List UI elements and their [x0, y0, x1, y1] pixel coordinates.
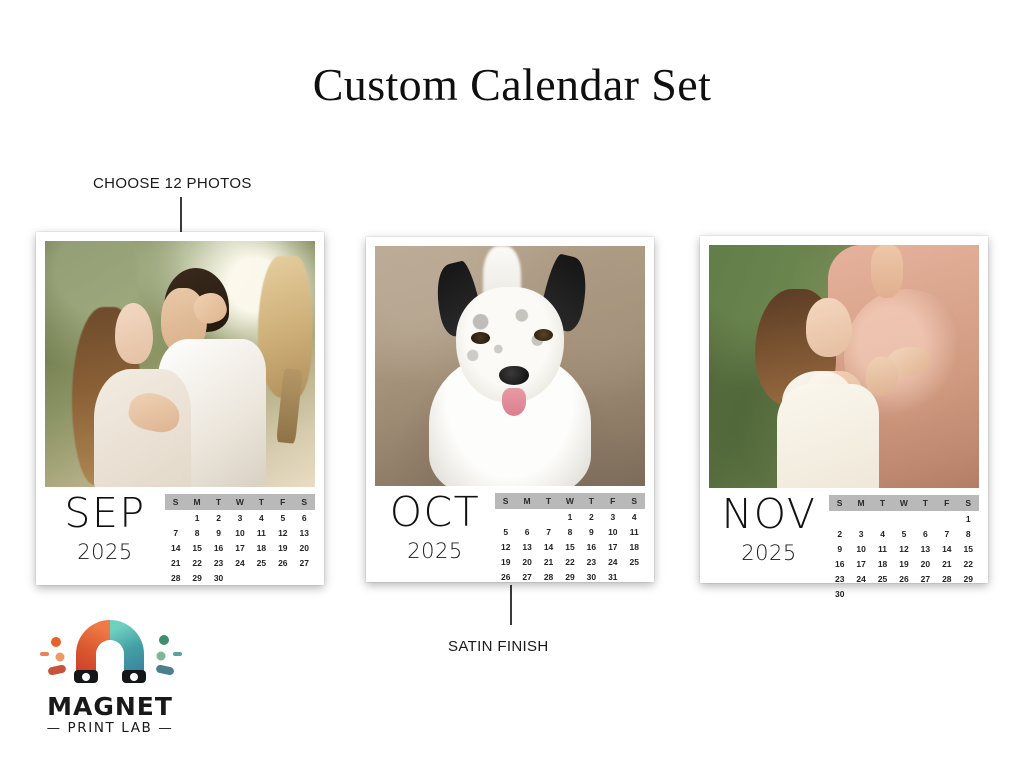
calendar-day-cell[interactable]: 21	[538, 554, 559, 569]
calendar-day-cell[interactable]: 27	[915, 571, 936, 586]
calendar-day-cell[interactable]: 26	[495, 569, 516, 584]
calendar-week-row: 123456	[165, 510, 315, 525]
calendar-day-cell[interactable]: 19	[495, 554, 516, 569]
calendar-day-cell[interactable]: 21	[165, 555, 186, 570]
calendar-photo-nov[interactable]	[709, 245, 979, 488]
month-grid-block-sep: S M T W T F S 12345678910111213141516171…	[165, 487, 315, 585]
calendar-empty-cell	[538, 509, 559, 524]
calendar-day-cell[interactable]: 8	[559, 524, 580, 539]
calendar-empty-cell	[850, 511, 871, 526]
calendar-day-cell[interactable]: 13	[516, 539, 537, 554]
weekday-header: M	[516, 493, 537, 509]
calendar-day-cell[interactable]: 19	[893, 556, 914, 571]
page-title: Custom Calendar Set	[0, 58, 1024, 111]
calendar-grid-oct: S M T W T F S 12345678910111213141516171…	[495, 493, 645, 584]
calendar-day-cell[interactable]: 18	[624, 539, 645, 554]
calendar-day-cell[interactable]: 8	[186, 525, 207, 540]
calendar-empty-cell	[829, 511, 850, 526]
calendar-day-cell[interactable]: 25	[872, 571, 893, 586]
calendar-day-cell[interactable]: 26	[272, 555, 293, 570]
calendar-empty-cell	[251, 570, 272, 585]
calendar-day-cell[interactable]: 12	[495, 539, 516, 554]
calendar-photo-oct[interactable]	[375, 246, 645, 486]
calendar-day-cell[interactable]: 24	[229, 555, 250, 570]
weekday-header-row: S M T W T F S	[829, 495, 979, 511]
month-grid-block-oct: S M T W T F S 12345678910111213141516171…	[495, 486, 645, 584]
calendar-day-cell[interactable]: 26	[893, 571, 914, 586]
calendar-day-cell[interactable]: 22	[559, 554, 580, 569]
weekday-header: S	[624, 493, 645, 509]
calendar-week-row: 9101112131415	[829, 541, 979, 556]
calendar-grid-nov: S M T W T F S 12345678910111213141516171…	[829, 495, 979, 601]
photo-mother-arm	[871, 245, 903, 298]
calendar-week-row: 1234	[495, 509, 645, 524]
calendar-day-cell[interactable]: 29	[186, 570, 207, 585]
calendar-day-cell[interactable]: 12	[893, 541, 914, 556]
calendar-bottom-sep: SEP 2025 S M T W T F S 12345678910111213…	[45, 487, 315, 575]
calendar-day-cell[interactable]: 14	[165, 540, 186, 555]
calendar-week-row: 567891011	[495, 524, 645, 539]
calendar-day-cell[interactable]: 30	[581, 569, 602, 584]
calendar-day-cell[interactable]: 15	[559, 539, 580, 554]
calendar-day-cell[interactable]: 18	[872, 556, 893, 571]
calendar-week-row: 78910111213	[165, 525, 315, 540]
calendar-day-cell[interactable]: 17	[850, 556, 871, 571]
month-grid-block-nov: S M T W T F S 12345678910111213141516171…	[829, 488, 979, 601]
calendar-day-cell[interactable]: 16	[829, 556, 850, 571]
calendar-day-cell[interactable]: 19	[272, 540, 293, 555]
calendar-empty-cell	[624, 569, 645, 584]
calendar-day-cell[interactable]: 9	[208, 525, 229, 540]
calendar-day-cell[interactable]: 29	[958, 571, 979, 586]
weekday-header: F	[602, 493, 623, 509]
calendar-day-cell[interactable]: 7	[936, 526, 957, 541]
calendar-empty-cell	[893, 511, 914, 526]
month-name-nov: NOV	[709, 494, 829, 535]
calendar-day-cell[interactable]: 25	[251, 555, 272, 570]
calendar-empty-cell	[272, 570, 293, 585]
calendar-day-cell[interactable]: 23	[208, 555, 229, 570]
calendar-day-cell[interactable]: 27	[516, 569, 537, 584]
calendar-day-cell[interactable]: 24	[602, 554, 623, 569]
calendar-day-cell[interactable]: 22	[958, 556, 979, 571]
calendar-card-sep[interactable]: SEP 2025 S M T W T F S 12345678910111213…	[36, 232, 324, 585]
weekday-header: F	[272, 494, 293, 510]
calendar-day-cell[interactable]: 1	[958, 511, 979, 526]
weekday-header: W	[229, 494, 250, 510]
logo-wordmark: MAGNET	[30, 692, 190, 721]
calendar-day-cell[interactable]: 14	[936, 541, 957, 556]
calendar-day-cell[interactable]: 11	[251, 525, 272, 540]
calendar-day-cell[interactable]: 23	[581, 554, 602, 569]
calendar-day-cell[interactable]: 9	[829, 541, 850, 556]
calendar-day-cell[interactable]: 25	[624, 554, 645, 569]
calendar-card-nov[interactable]: NOV 2025 S M T W T F S 12345678910111213…	[700, 236, 988, 583]
calendar-day-cell[interactable]: 17	[602, 539, 623, 554]
calendar-empty-cell	[495, 509, 516, 524]
calendar-day-cell[interactable]: 29	[559, 569, 580, 584]
brand-logo[interactable]: MAGNET — PRINT LAB —	[30, 612, 190, 732]
calendar-empty-cell	[872, 511, 893, 526]
calendar-day-cell[interactable]: 20	[915, 556, 936, 571]
calendar-week-row: 12131415161718	[495, 539, 645, 554]
calendar-day-cell[interactable]: 20	[294, 540, 315, 555]
weekday-header: W	[559, 493, 580, 509]
calendar-week-row: 16171819202122	[829, 556, 979, 571]
calendar-day-cell[interactable]: 4	[624, 509, 645, 524]
calendar-empty-cell	[294, 570, 315, 585]
calendar-week-row: 21222324252627	[165, 555, 315, 570]
weekday-header: T	[872, 495, 893, 511]
calendar-week-row: 282930	[165, 570, 315, 585]
weekday-header: F	[936, 495, 957, 511]
calendar-day-cell[interactable]: 18	[251, 540, 272, 555]
calendar-day-cell[interactable]: 5	[272, 510, 293, 525]
calendar-day-cell[interactable]: 17	[229, 540, 250, 555]
photo-girl-face	[806, 298, 852, 356]
month-block-oct: OCT 2025	[375, 486, 495, 563]
calendar-empty-cell	[936, 511, 957, 526]
calendar-bottom-nov: NOV 2025 S M T W T F S 12345678910111213…	[709, 488, 979, 576]
calendar-week-row: 30	[829, 586, 979, 601]
weekday-header: W	[893, 495, 914, 511]
calendar-day-cell[interactable]: 2	[829, 526, 850, 541]
photo-girl-dress	[777, 384, 880, 489]
weekday-header: T	[915, 495, 936, 511]
calendar-week-row: 14151617181920	[165, 540, 315, 555]
calendar-day-cell[interactable]: 22	[186, 555, 207, 570]
calendar-day-cell[interactable]: 6	[915, 526, 936, 541]
month-year-sep: 2025	[45, 540, 165, 564]
calendar-day-cell[interactable]: 13	[294, 525, 315, 540]
weekday-header: T	[538, 493, 559, 509]
calendar-day-cell[interactable]: 4	[251, 510, 272, 525]
weekday-header: T	[208, 494, 229, 510]
calendar-body-sep: 1234567891011121314151617181920212223242…	[165, 510, 315, 585]
calendar-week-row: 19202122232425	[495, 554, 645, 569]
calendar-empty-cell	[915, 511, 936, 526]
month-year-nov: 2025	[709, 541, 829, 565]
calendar-day-cell[interactable]: 11	[872, 541, 893, 556]
calendar-day-cell[interactable]: 5	[495, 524, 516, 539]
slide-canvas: Custom Calendar Set CHOOSE 12 PHOTOS SAT…	[0, 0, 1024, 768]
calendar-day-cell[interactable]: 3	[229, 510, 250, 525]
weekday-header: M	[186, 494, 207, 510]
calendar-day-cell[interactable]: 9	[581, 524, 602, 539]
calendar-day-cell[interactable]: 27	[294, 555, 315, 570]
calendar-day-cell[interactable]: 6	[294, 510, 315, 525]
callout-leader-line-choose-photos	[180, 197, 182, 237]
calendar-card-oct[interactable]: OCT 2025 S M T W T F S 12345678910111213…	[366, 237, 654, 582]
calendar-day-cell[interactable]: 15	[958, 541, 979, 556]
calendar-day-cell[interactable]: 20	[516, 554, 537, 569]
calendar-day-cell[interactable]: 14	[538, 539, 559, 554]
month-name-sep: SEP	[45, 493, 165, 534]
calendar-day-cell[interactable]: 3	[850, 526, 871, 541]
calendar-week-row: 23242526272829	[829, 571, 979, 586]
calendar-day-cell[interactable]: 28	[936, 571, 957, 586]
calendar-day-cell[interactable]: 1	[186, 510, 207, 525]
horseshoe-magnet-icon	[30, 612, 190, 690]
month-block-nov: NOV 2025	[709, 488, 829, 565]
weekday-header: T	[251, 494, 272, 510]
calendar-empty-cell	[958, 586, 979, 601]
calendar-day-cell[interactable]: 4	[872, 526, 893, 541]
month-name-oct: OCT	[375, 492, 495, 533]
calendar-empty-cell	[165, 510, 186, 525]
photo-dog-eye-right	[534, 329, 553, 341]
calendar-week-row: 2345678	[829, 526, 979, 541]
calendar-empty-cell	[893, 586, 914, 601]
weekday-header: T	[581, 493, 602, 509]
calendar-day-cell[interactable]: 24	[850, 571, 871, 586]
calendar-empty-cell	[850, 586, 871, 601]
calendar-day-cell[interactable]: 7	[165, 525, 186, 540]
calendar-body-oct: 1234567891011121314151617181920212223242…	[495, 509, 645, 584]
calendar-day-cell[interactable]: 2	[581, 509, 602, 524]
callout-label-choose-photos: CHOOSE 12 PHOTOS	[93, 175, 252, 192]
calendar-day-cell[interactable]: 28	[165, 570, 186, 585]
calendar-day-cell[interactable]: 10	[602, 524, 623, 539]
weekday-header: S	[165, 494, 186, 510]
calendar-day-cell[interactable]: 8	[958, 526, 979, 541]
calendar-grid-sep: S M T W T F S 12345678910111213141516171…	[165, 494, 315, 585]
weekday-header-row: S M T W T F S	[165, 494, 315, 510]
calendar-day-cell[interactable]: 11	[624, 524, 645, 539]
calendar-day-cell[interactable]: 30	[208, 570, 229, 585]
calendar-week-row: 262728293031	[495, 569, 645, 584]
weekday-header: S	[829, 495, 850, 511]
weekday-header-row: S M T W T F S	[495, 493, 645, 509]
month-year-oct: 2025	[375, 539, 495, 563]
weekday-header: S	[495, 493, 516, 509]
calendar-body-nov: 1234567891011121314151617181920212223242…	[829, 511, 979, 601]
calendar-day-cell[interactable]: 13	[915, 541, 936, 556]
calendar-day-cell[interactable]: 2	[208, 510, 229, 525]
weekday-header: S	[958, 495, 979, 511]
callout-leader-line-satin-finish	[510, 585, 512, 625]
calendar-day-cell[interactable]: 16	[581, 539, 602, 554]
logo-tagline: — PRINT LAB —	[30, 720, 190, 736]
calendar-photo-sep[interactable]	[45, 241, 315, 487]
month-block-sep: SEP 2025	[45, 487, 165, 564]
calendar-day-cell[interactable]: 15	[186, 540, 207, 555]
calendar-day-cell[interactable]: 10	[850, 541, 871, 556]
calendar-day-cell[interactable]: 6	[516, 524, 537, 539]
weekday-header: M	[850, 495, 871, 511]
calendar-empty-cell	[229, 570, 250, 585]
calendar-day-cell[interactable]: 3	[602, 509, 623, 524]
callout-label-satin-finish: SATIN FINISH	[448, 638, 549, 655]
calendar-empty-cell	[872, 586, 893, 601]
calendar-empty-cell	[516, 509, 537, 524]
calendar-day-cell[interactable]: 23	[829, 571, 850, 586]
calendar-day-cell[interactable]: 31	[602, 569, 623, 584]
calendar-day-cell[interactable]: 7	[538, 524, 559, 539]
calendar-day-cell[interactable]: 5	[893, 526, 914, 541]
weekday-header: S	[294, 494, 315, 510]
calendar-day-cell[interactable]: 1	[559, 509, 580, 524]
calendar-bottom-oct: OCT 2025 S M T W T F S 12345678910111213…	[375, 486, 645, 574]
calendar-day-cell[interactable]: 28	[538, 569, 559, 584]
calendar-day-cell[interactable]: 10	[229, 525, 250, 540]
calendar-day-cell[interactable]: 16	[208, 540, 229, 555]
calendar-day-cell[interactable]: 30	[829, 586, 850, 601]
calendar-day-cell[interactable]: 21	[936, 556, 957, 571]
calendar-day-cell[interactable]: 12	[272, 525, 293, 540]
calendar-empty-cell	[915, 586, 936, 601]
calendar-week-row: 1	[829, 511, 979, 526]
calendar-empty-cell	[936, 586, 957, 601]
